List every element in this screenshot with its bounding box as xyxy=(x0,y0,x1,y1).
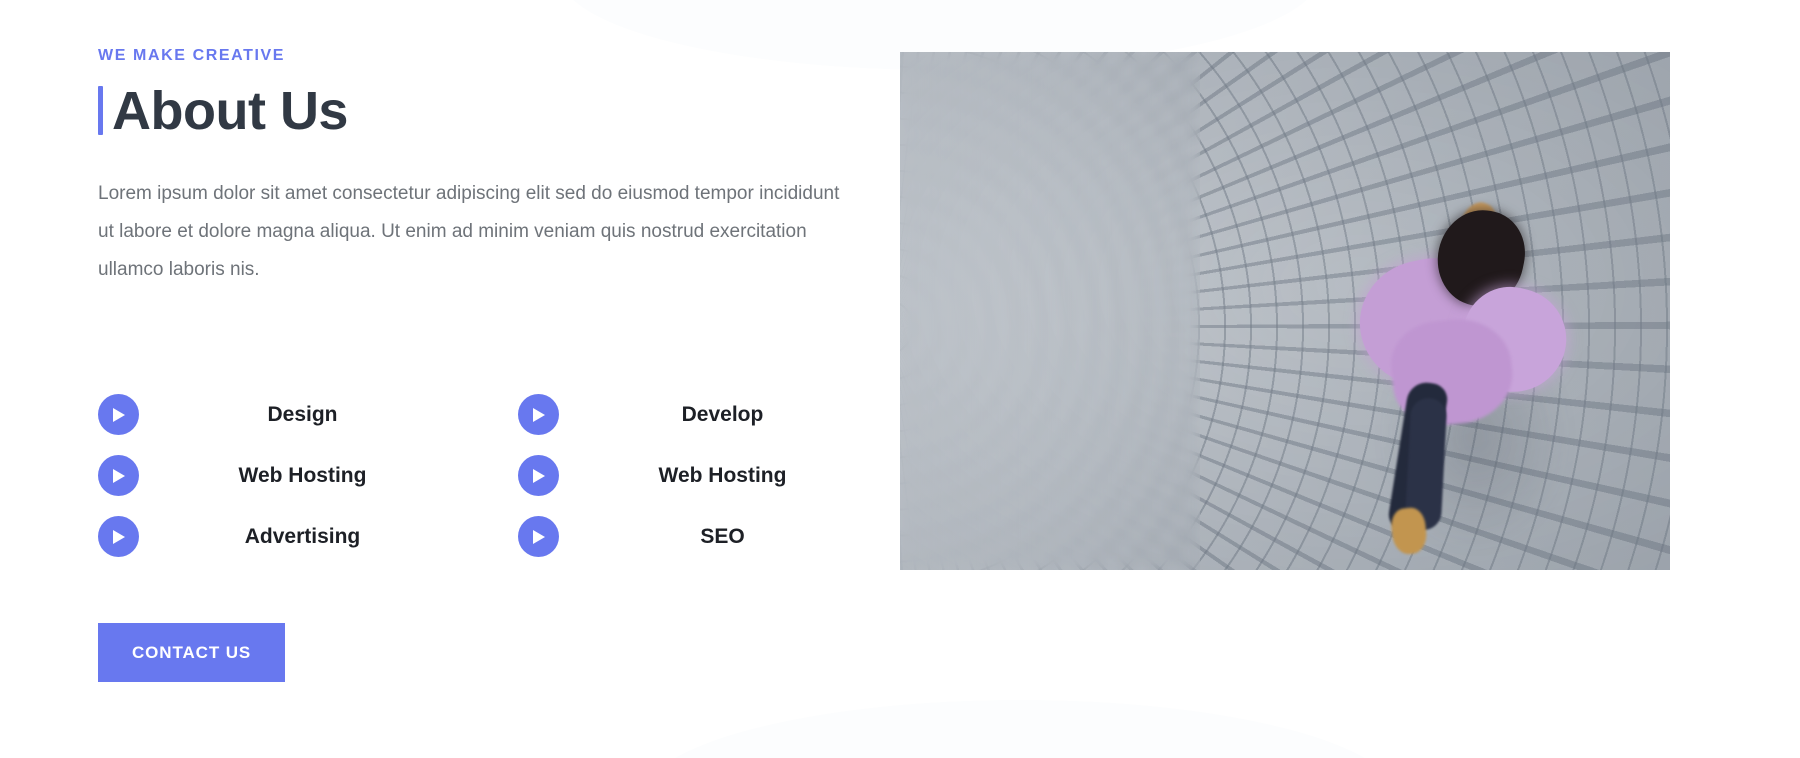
service-label: Advertising xyxy=(139,525,518,549)
service-item[interactable]: Design xyxy=(98,384,518,445)
service-label: SEO xyxy=(559,525,938,549)
play-circle-icon xyxy=(98,516,139,557)
about-media-column xyxy=(900,0,1800,570)
play-circle-icon xyxy=(518,394,559,435)
play-circle-icon xyxy=(518,516,559,557)
service-label: Design xyxy=(139,403,518,427)
play-circle-icon xyxy=(98,394,139,435)
play-circle-icon xyxy=(98,455,139,496)
page-title: About Us xyxy=(98,82,900,141)
services-grid: Design Develop Web Hosting Web Hosting xyxy=(98,384,900,567)
service-item[interactable]: Develop xyxy=(518,384,938,445)
page-title-text: About Us xyxy=(112,82,900,141)
contact-us-button[interactable]: CONTACT US xyxy=(98,623,285,682)
service-item[interactable]: Web Hosting xyxy=(518,445,938,506)
service-item[interactable]: Web Hosting xyxy=(98,445,518,506)
title-accent-bar xyxy=(98,86,103,135)
eyebrow-text: WE MAKE CREATIVE xyxy=(98,48,900,64)
service-label: Web Hosting xyxy=(559,464,938,488)
play-circle-icon xyxy=(518,455,559,496)
service-label: Develop xyxy=(559,403,938,427)
about-us-section: WE MAKE CREATIVE About Us Lorem ipsum do… xyxy=(0,0,1800,758)
about-content-column: WE MAKE CREATIVE About Us Lorem ipsum do… xyxy=(0,0,900,682)
service-item[interactable]: Advertising xyxy=(98,506,518,567)
about-hero-image xyxy=(900,52,1670,570)
walking-person-figure xyxy=(1320,202,1580,532)
service-label: Web Hosting xyxy=(139,464,518,488)
about-paragraph: Lorem ipsum dolor sit amet consectetur a… xyxy=(98,175,858,288)
service-item[interactable]: SEO xyxy=(518,506,938,567)
